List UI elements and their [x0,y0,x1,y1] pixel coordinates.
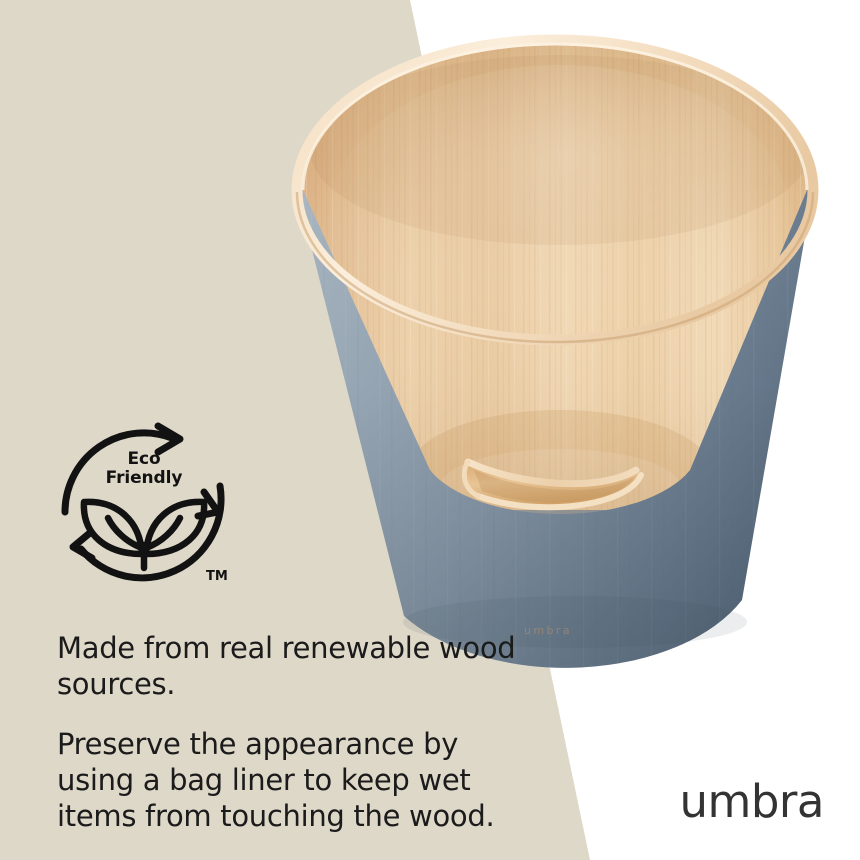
brand-logo-umbra: umbra [680,779,825,824]
leaves-icon [84,502,204,568]
arrowhead-left-icon [73,532,92,558]
product-marketing-image: umbra [0,0,860,860]
copy-paragraph-2: Preserve the appearance by using a bag l… [57,726,527,834]
eco-friendly-badge: TM Eco Friendly [54,408,234,598]
marketing-copy: Made from real renewable wood sources. P… [57,630,527,834]
trademark-mark: TM [206,569,228,584]
copy-paragraph-1: Made from real renewable wood sources. [57,630,527,702]
